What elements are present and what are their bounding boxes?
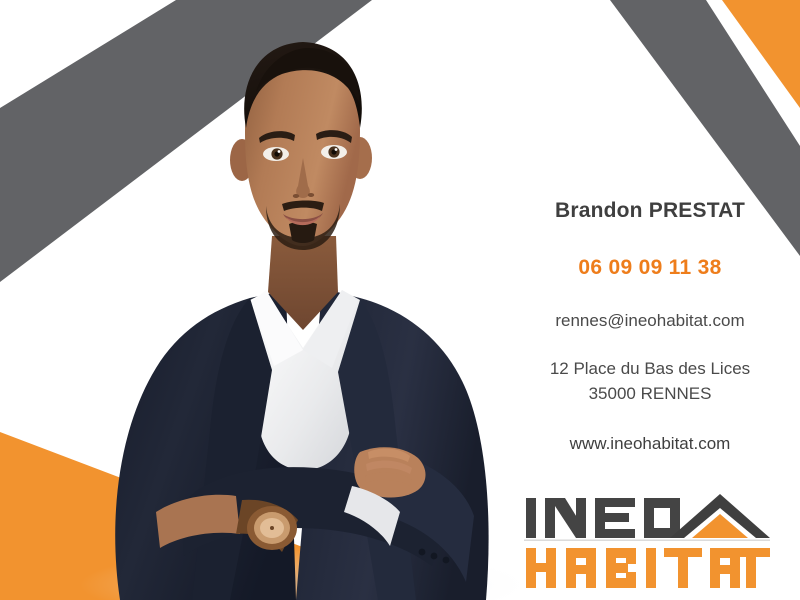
sleeve-button-2 [431, 553, 438, 560]
nostril-left [293, 194, 299, 198]
business-card: Brandon PRESTAT 06 09 09 11 38 rennes@in… [0, 0, 800, 600]
contact-address-line1: 12 Place du Bas des Lices [500, 357, 800, 382]
contact-address-line2: 35000 RENNES [500, 382, 800, 407]
contact-phone[interactable]: 06 09 09 11 38 [500, 255, 800, 280]
contact-name: Brandon PRESTAT [500, 198, 800, 223]
contact-address: 12 Place du Bas des Lices 35000 RENNES [500, 357, 800, 406]
contact-website[interactable]: www.ineohabitat.com [500, 433, 800, 455]
logo-word-habitat [526, 548, 770, 588]
sleeve-button-1 [419, 549, 426, 556]
contact-details: Brandon PRESTAT 06 09 09 11 38 rennes@in… [500, 198, 800, 455]
top-right-orange-triangle-shape [722, 0, 800, 108]
eye-highlight-right [335, 148, 338, 151]
contact-email[interactable]: rennes@ineohabitat.com [500, 310, 800, 332]
logo-word-ineo [526, 498, 680, 538]
nostril-right [308, 193, 314, 197]
sleeve-button-3 [443, 557, 450, 564]
eye-highlight-left [278, 150, 281, 153]
ineo-habitat-logo[interactable] [524, 492, 770, 592]
logo-divider [524, 540, 770, 541]
portrait-photo [60, 0, 530, 600]
house-roof-icon [670, 494, 770, 538]
